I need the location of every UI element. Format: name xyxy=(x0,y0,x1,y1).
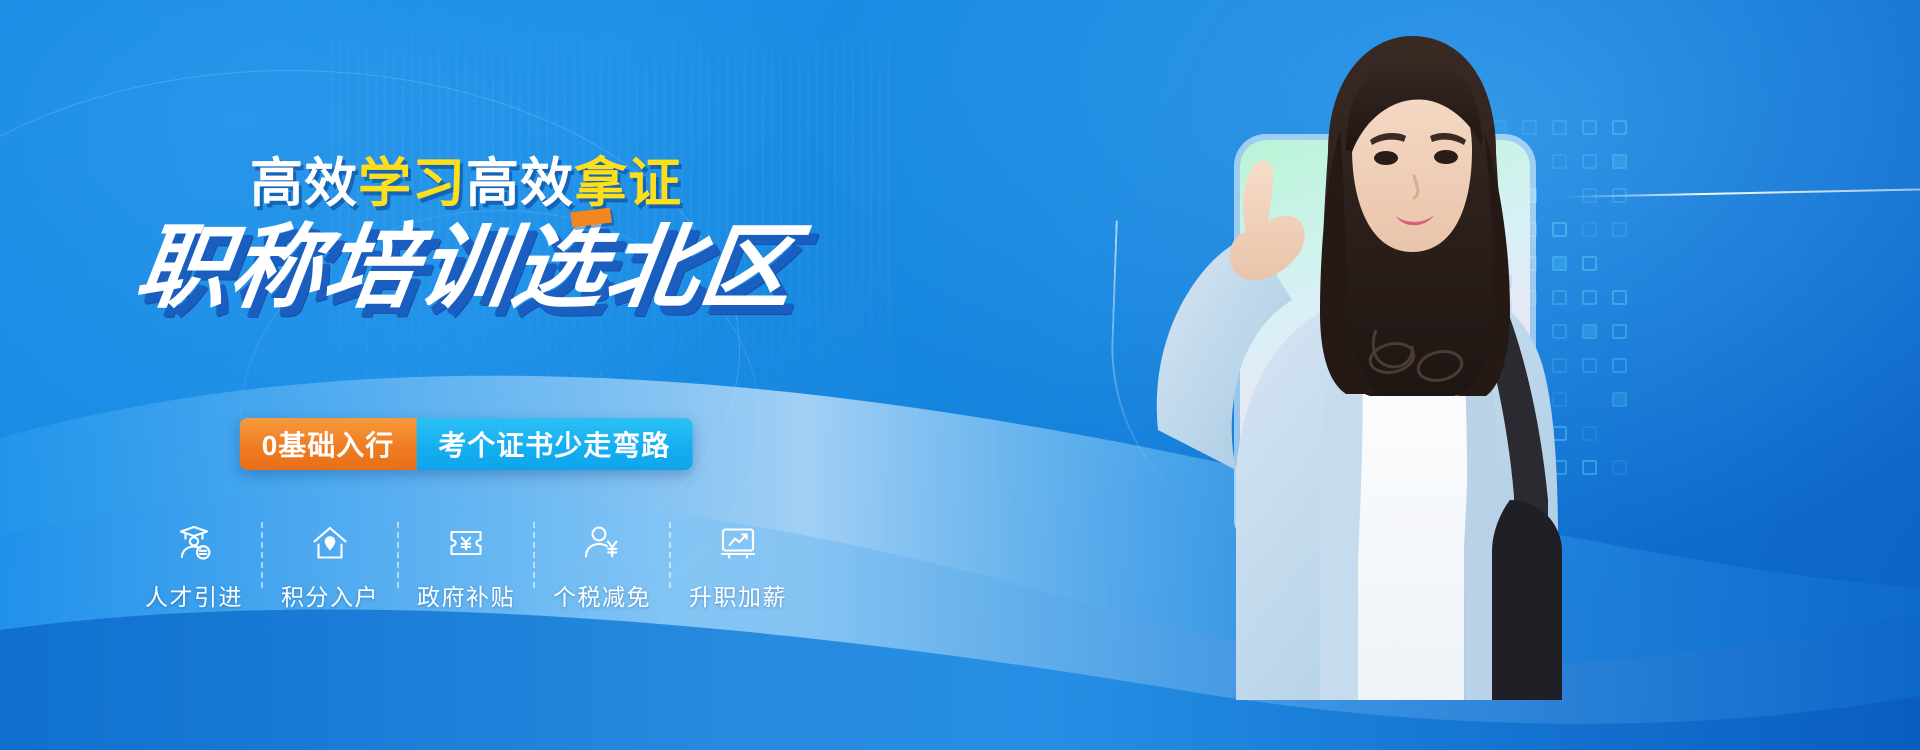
hero-image-group xyxy=(1040,0,1600,700)
banner-subheadline: 高效学习高效拿证 xyxy=(0,157,1040,210)
banner-copy: 高效学习高效拿证 职称培训选北区 0基础入行 考个证书少走弯路 人才引进积分入户… xyxy=(0,0,1040,750)
feature-label: 人才引进 xyxy=(145,578,243,612)
hero-person-illustration xyxy=(1040,0,1600,700)
feature-list: 人才引进积分入户政府补贴个税减免升职加薪 xyxy=(127,520,805,612)
matrix-square xyxy=(1612,188,1627,203)
growth-chart-board-icon xyxy=(718,520,758,566)
light-ray-horizontal xyxy=(1560,188,1920,198)
feature-label: 政府补贴 xyxy=(417,578,515,612)
person-yuan-icon xyxy=(582,520,622,566)
graduate-person-icon xyxy=(174,520,214,566)
feature-label: 升职加薪 xyxy=(689,578,787,612)
subheadline-part-1: 学习 xyxy=(358,154,466,213)
ticket-yuan-icon xyxy=(446,520,486,566)
matrix-square xyxy=(1612,222,1627,237)
subtitle-text: 考个证书少走弯路 xyxy=(416,418,692,470)
subheadline-part-0: 高效 xyxy=(250,154,358,213)
banner-headline-text: 职称培训选北区 xyxy=(130,217,802,319)
feature-label: 个税减免 xyxy=(553,578,651,612)
feature-item[interactable]: 积分入户 xyxy=(263,520,397,612)
feature-item[interactable]: 升职加薪 xyxy=(671,520,805,612)
matrix-square xyxy=(1612,154,1627,169)
subheadline-part-3: 拿证 xyxy=(574,154,682,213)
matrix-square xyxy=(1612,120,1627,135)
subtitle-bar: 0基础入行 考个证书少走弯路 xyxy=(240,418,693,470)
home-location-pin-icon xyxy=(310,520,350,566)
promo-banner: 高效学习高效拿证 职称培训选北区 0基础入行 考个证书少走弯路 人才引进积分入户… xyxy=(0,0,1920,750)
feature-item[interactable]: 个税减免 xyxy=(535,520,669,612)
feature-item[interactable]: 政府补贴 xyxy=(399,520,533,612)
subheadline-part-2: 高效 xyxy=(466,154,574,213)
feature-item[interactable]: 人才引进 xyxy=(127,520,261,612)
zero-basis-badge: 0基础入行 xyxy=(240,418,417,470)
matrix-square xyxy=(1612,290,1627,305)
feature-label: 积分入户 xyxy=(281,578,379,612)
banner-headline: 职称培训选北区 xyxy=(0,222,1046,314)
